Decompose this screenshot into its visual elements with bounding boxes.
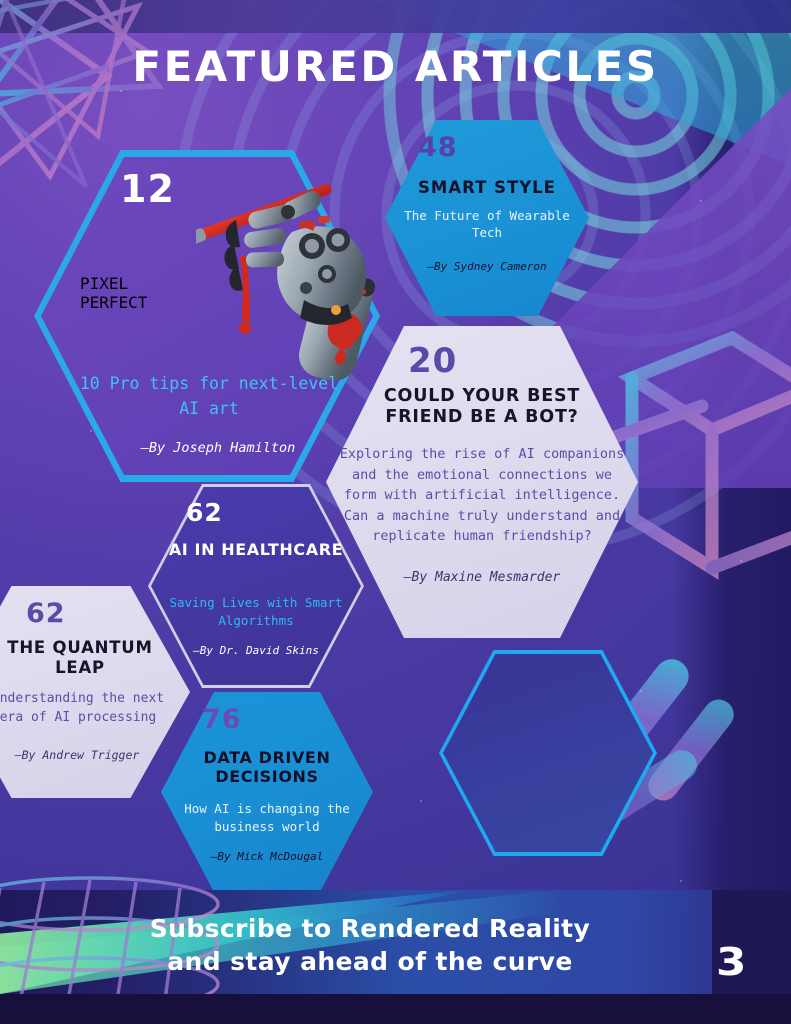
page-number: 48 [418, 134, 458, 161]
hex-fill [41, 157, 373, 475]
article-card-data-driven[interactable]: 76 Data Driven Decisions How AI is chang… [161, 692, 373, 892]
hex-fill [443, 654, 653, 852]
article-card-smart-style[interactable]: 48 Smart Style The Future of Wearable Te… [385, 120, 589, 316]
article-byline-smart-style: —By Sydney Cameron [395, 260, 579, 273]
subscribe-line-1: Subscribe to Rendered Reality [0, 912, 740, 945]
article-title-ai-healthcare: AI in Healthcare [160, 540, 352, 560]
article-subtitle-smart-style: The Future of Wearable Tech [403, 208, 571, 242]
article-subtitle-quantum-leap: Understanding the next era of AI process… [0, 690, 176, 728]
bottom-dark-strip [0, 994, 791, 1024]
article-title-best-friend-bot: Could Your Best Friend Be a Bot? [342, 386, 622, 427]
article-subtitle-best-friend-bot: Exploring the rise of AI companions and … [332, 444, 632, 547]
article-title-smart-style: Smart Style [385, 178, 589, 197]
article-title-data-driven: Data Driven Decisions [173, 748, 361, 786]
subscribe-callout: Subscribe to Rendered Reality and stay a… [0, 912, 740, 978]
magazine-page: Featured Articles 12 [0, 0, 791, 1024]
article-byline-quantum-leap: —By Andrew Trigger [0, 748, 172, 762]
article-subtitle-data-driven: How AI is changing the business world [171, 800, 363, 835]
page-number: 76 [202, 706, 242, 733]
page-number: 12 [120, 170, 175, 208]
article-byline-best-friend-bot: —By Maxine Mesmarder [342, 570, 622, 585]
wireframe-cube-icon [612, 318, 791, 608]
article-title-quantum-leap: The Quantum Leap [0, 638, 172, 678]
page-title-text: Featured Articles [132, 42, 658, 91]
article-card-best-friend-bot[interactable]: 20 Could Your Best Friend Be a Bot? Expl… [326, 326, 638, 638]
page-title: Featured Articles [0, 42, 791, 91]
page-number: 62 [186, 500, 223, 525]
page-number: 20 [408, 344, 457, 378]
article-byline-data-driven: —By Mick McDougal [173, 850, 361, 863]
subscribe-line-2: and stay ahead of the curve [0, 945, 740, 978]
footer-page-number: 3 [716, 943, 746, 981]
page-number: 62 [26, 600, 66, 627]
empty-hexagon-icon [439, 650, 657, 856]
